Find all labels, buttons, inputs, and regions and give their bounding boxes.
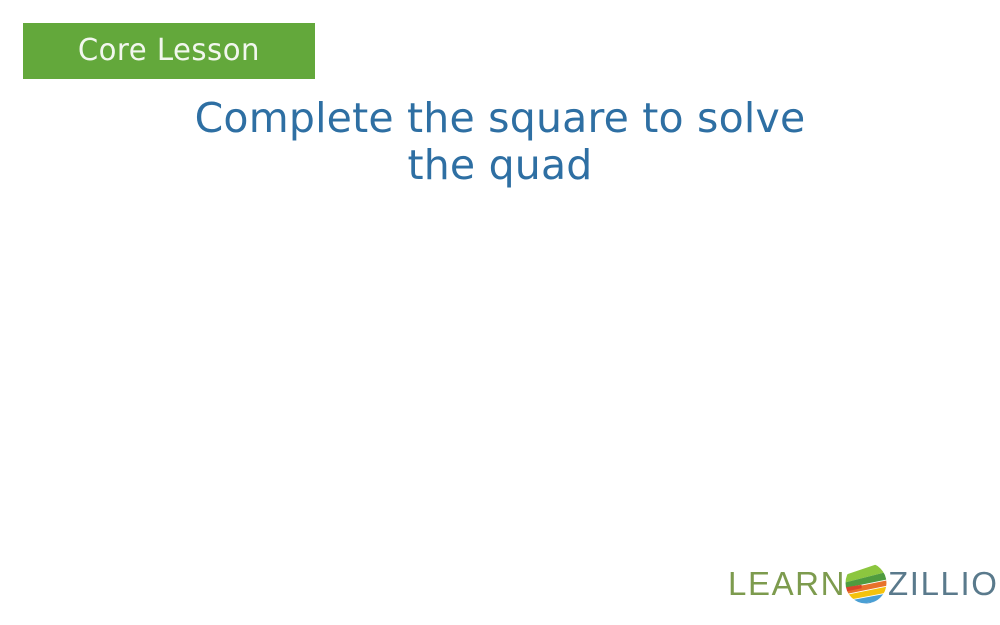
globe-icon bbox=[844, 561, 888, 605]
core-lesson-banner: Core Lesson bbox=[23, 23, 315, 79]
logo-word-learn: LEARN bbox=[728, 567, 846, 600]
learnzillion-logo: LEARN ZILLIO bbox=[728, 558, 980, 608]
slide-title-line-1: Complete the square to solve bbox=[0, 95, 1000, 142]
slide-canvas: Core Lesson Complete the square to solve… bbox=[0, 0, 1000, 625]
slide-title-line-2: the quad bbox=[0, 142, 1000, 189]
slide-body-content bbox=[40, 200, 960, 530]
core-lesson-banner-label: Core Lesson bbox=[78, 36, 260, 66]
logo-word-zillion: ZILLION bbox=[888, 567, 1000, 600]
slide-title: Complete the square to solve the quad bbox=[0, 95, 1000, 189]
